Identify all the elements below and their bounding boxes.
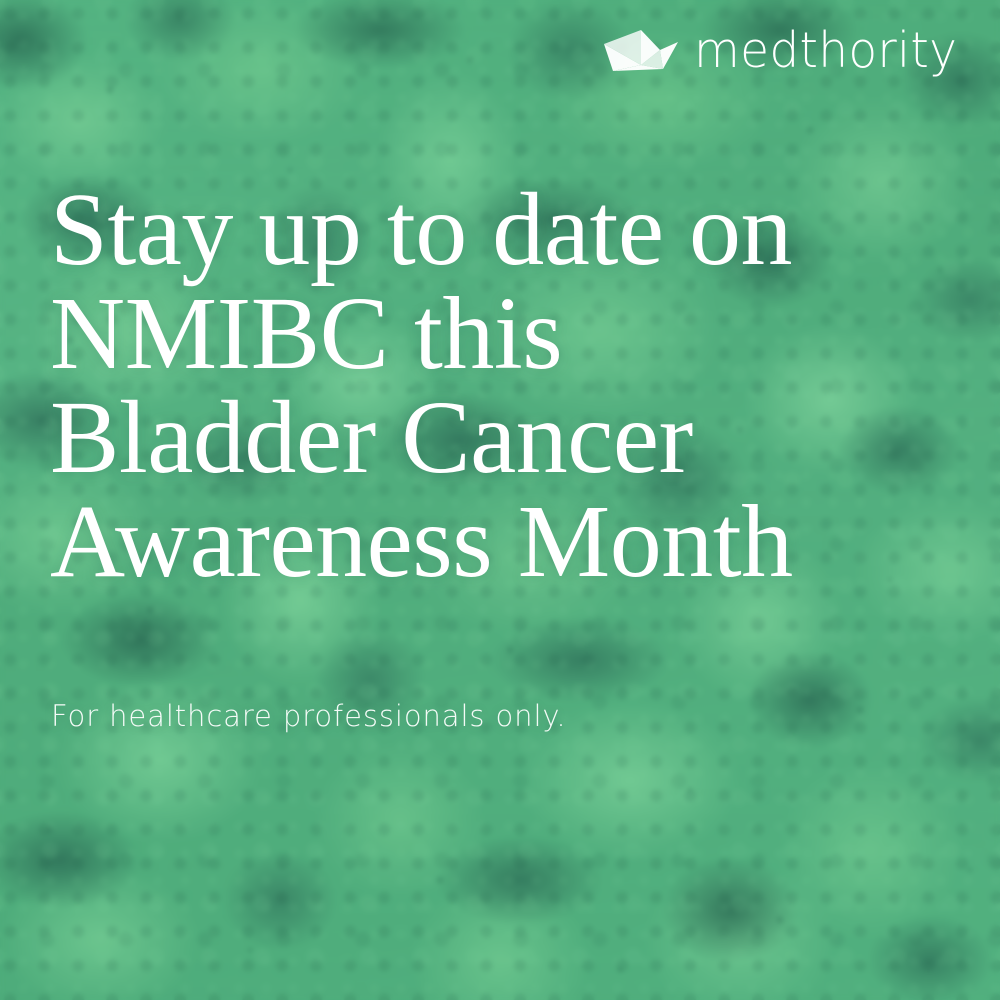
poster-headline: Stay up to date on NMIBC this Bladder Ca… [50, 178, 793, 594]
medthority-wordmark: medthority [694, 26, 957, 75]
medthority-origami-crown-icon [602, 27, 680, 75]
audience-disclaimer: For healthcare professionals only. [51, 699, 566, 734]
medthority-logo[interactable]: medthority [602, 26, 968, 75]
promotional-poster: medthority Stay up to date on NMIBC this… [0, 0, 1000, 1000]
